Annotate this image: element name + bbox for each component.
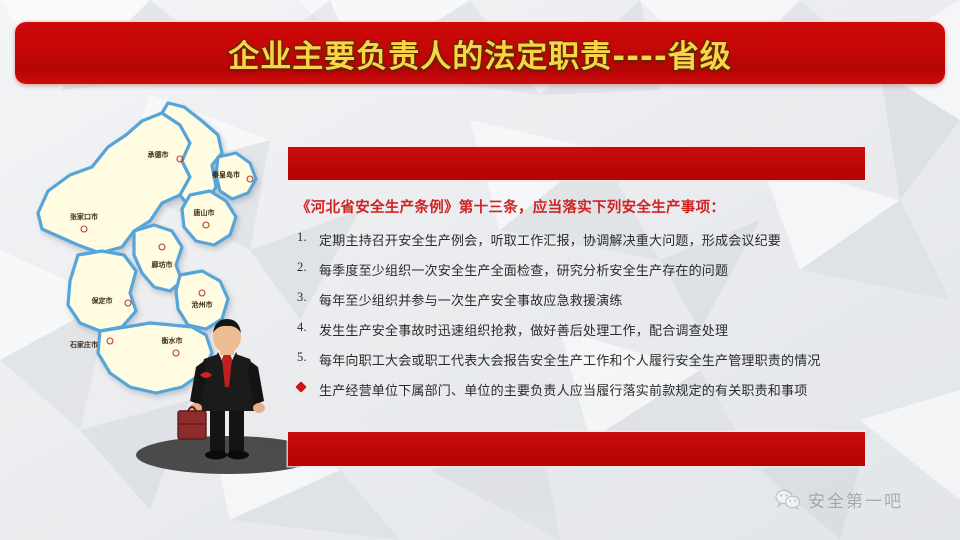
- watermark-text: 安全第一吧: [808, 487, 903, 512]
- list-item: 5. 每年向职工大会或职工代表大会报告安全生产工作和个人履行安全生产管理职责的情…: [288, 350, 888, 369]
- list-item-number: 4.: [297, 320, 319, 335]
- list-item-number: 1.: [297, 230, 319, 245]
- city-label: 唐山市: [194, 208, 215, 217]
- city-label: 承德市: [148, 150, 169, 159]
- diamond-bullet-icon: [297, 380, 319, 391]
- regulation-heading: 《河北省安全生产条例》第十三条，应当落实下列安全生产事项：: [296, 196, 888, 217]
- city-label: 秦皇岛市: [211, 170, 240, 179]
- list-item-text: 每年至少组织并参与一次生产安全事故应急救援演练: [319, 290, 888, 309]
- decorative-bar-top: [288, 147, 865, 180]
- list-item-number: 3.: [297, 290, 319, 305]
- list-item: 1. 定期主持召开安全生产例会，听取工作汇报，协调解决重大问题，形成会议纪要: [288, 230, 888, 249]
- title-banner: 企业主要负责人的法定职责----省级: [15, 22, 945, 84]
- list-item-text: 每年向职工大会或职工代表大会报告安全生产工作和个人履行安全生产管理职责的情况: [319, 350, 888, 369]
- list-item: 2. 每季度至少组织一次安全生产全面检查，研究分析安全生产存在的问题: [288, 260, 888, 279]
- page-title: 企业主要负责人的法定职责----省级: [228, 31, 731, 76]
- list-item: 3. 每年至少组织并参与一次生产安全事故应急救援演练: [288, 290, 888, 309]
- list-item-number: 5.: [297, 350, 319, 365]
- city-label: 沧州市: [192, 300, 213, 309]
- businessman-figure: [128, 315, 258, 465]
- list-item-number: 2.: [297, 260, 319, 275]
- city-label: 保定市: [91, 296, 113, 305]
- slide-root: 企业主要负责人的法定职责----省级: [0, 0, 960, 540]
- content-area: 《河北省安全生产条例》第十三条，应当落实下列安全生产事项： 1. 定期主持召开安…: [288, 196, 888, 410]
- wechat-icon: [775, 489, 801, 511]
- watermark: 安全第一吧: [775, 487, 903, 512]
- list-item-text: 定期主持召开安全生产例会，听取工作汇报，协调解决重大问题，形成会议纪要: [319, 230, 888, 249]
- list-item-text: 发生生产安全事故时迅速组织抢救，做好善后处理工作，配合调查处理: [319, 320, 888, 339]
- decorative-bar-bottom: [288, 432, 865, 466]
- list-item-text: 每季度至少组织一次安全生产全面检查，研究分析安全生产存在的问题: [319, 260, 888, 279]
- list-item: 4. 发生生产安全事故时迅速组织抢救，做好善后处理工作，配合调查处理: [288, 320, 888, 339]
- city-label: 廊坊市: [152, 260, 173, 269]
- duty-list: 1. 定期主持召开安全生产例会，听取工作汇报，协调解决重大问题，形成会议纪要 2…: [288, 230, 888, 399]
- city-label: 石家庄市: [69, 340, 98, 349]
- city-label: 张家口市: [70, 212, 98, 221]
- list-item-footnote: 生产经营单位下属部门、单位的主要负责人应当履行落实前款规定的有关职责和事项: [288, 380, 888, 399]
- footnote-text: 生产经营单位下属部门、单位的主要负责人应当履行落实前款规定的有关职责和事项: [319, 380, 888, 399]
